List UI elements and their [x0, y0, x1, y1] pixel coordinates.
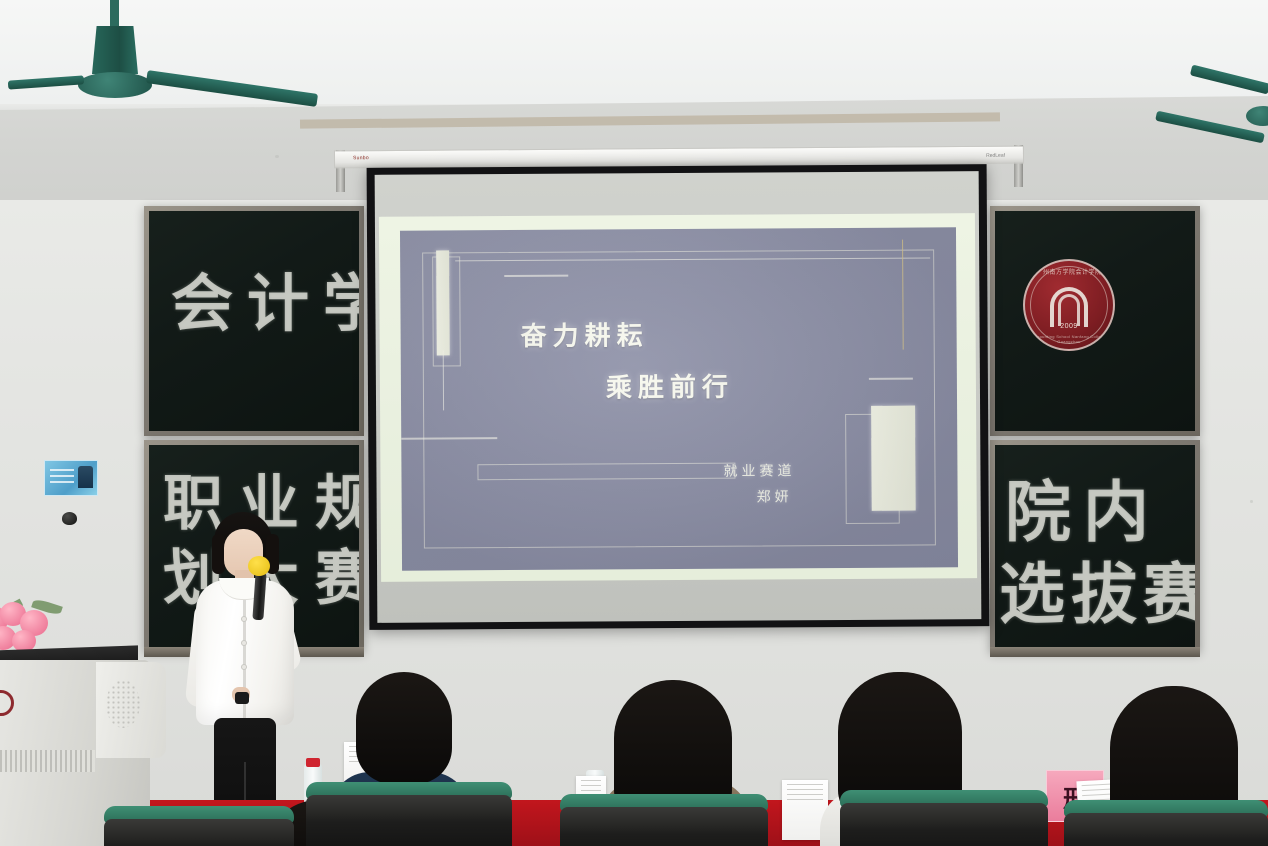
wall-notice-card [44, 460, 98, 496]
chalk-tray [990, 647, 1200, 657]
ceiling-fan-motor [92, 26, 138, 74]
wall-card-lines [50, 469, 74, 487]
slide-deco-dash-upper [504, 275, 568, 277]
auditorium-chair[interactable] [1064, 800, 1268, 846]
blackboard-surface: 会计学院 [149, 211, 359, 431]
emblem-year: 2009 [1025, 323, 1113, 330]
slide-title-line-2: 乘胜前行 [606, 367, 734, 405]
wall-card-photo [78, 466, 93, 488]
wall-mark [1250, 500, 1253, 503]
slide-title-line-1: 奋力耕耘 [521, 315, 649, 353]
slide-subtitle-track: 就业赛道 [723, 460, 795, 480]
podium-speaker-grille [106, 680, 140, 728]
bottle-cap [306, 758, 320, 767]
roller-label: Sunbo [353, 155, 369, 161]
ceiling-fan-hub [78, 72, 152, 98]
chair-back [306, 795, 512, 846]
blackboard-right-top: 广州南方学院会计学院 2009 Accounting School Nanfan… [990, 206, 1200, 436]
chair-back [840, 803, 1048, 846]
slide-deco-bar-right [871, 406, 916, 511]
auditorium-chair[interactable] [104, 806, 294, 846]
microphone-head [248, 556, 270, 576]
blouse-button [241, 664, 247, 670]
chair-back [104, 819, 294, 846]
projector-screen[interactable]: 奋力耕耘 乘胜前行 就业赛道 郑妍 [367, 164, 990, 630]
slide-deco-bottom-bar [477, 463, 735, 481]
podium-vent [0, 750, 95, 772]
chair-back [1064, 813, 1268, 846]
presenter-clicker [235, 692, 249, 704]
wall-hook [62, 512, 77, 525]
slide-deco-dash-right [869, 378, 913, 380]
wall-mark [275, 155, 279, 158]
classroom-scene: Sunbo RedLeaf 会计学院 职业规划大赛 广州南方学院会计学院 200… [0, 0, 1268, 846]
ceiling-fan-stem [110, 0, 119, 30]
auditorium-chair[interactable] [560, 794, 768, 846]
auditorium-chair[interactable] [840, 790, 1048, 846]
blouse-button [241, 640, 247, 646]
blackboard-right-bottom: 院内 选拔赛 [990, 440, 1200, 652]
emblem-chinese-text: 广州南方学院会计学院 [1025, 267, 1113, 276]
chalk-text-left-top: 会计学院 [171, 253, 359, 343]
projector-screen-surface: 奋力耕耘 乘胜前行 就业赛道 郑妍 [375, 171, 982, 623]
emblem-arch-inner-icon [1058, 294, 1080, 326]
blackboard-surface: 广州南方学院会计学院 2009 Accounting School Nanfan… [995, 211, 1195, 431]
emblem-english-text: Accounting School Nanfang College Guangz… [1025, 334, 1113, 344]
roller-brand-label: RedLeaf [986, 153, 1005, 159]
college-emblem: 广州南方学院会计学院 2009 Accounting School Nanfan… [1023, 259, 1115, 351]
blouse-button [241, 616, 247, 622]
slide-presenter-name: 郑妍 [757, 486, 793, 506]
blackboard-left-top: 会计学院 [144, 206, 364, 436]
blackboard-surface: 院内 选拔赛 [995, 445, 1195, 647]
chalk-text-right-line2: 选拔赛 [999, 541, 1195, 637]
auditorium-chair[interactable] [306, 782, 512, 846]
slide-deco-bar-left [436, 250, 450, 355]
presenter [186, 512, 306, 846]
presentation-slide: 奋力耕耘 乘胜前行 就业赛道 郑妍 [400, 227, 958, 570]
chair-back [560, 807, 768, 846]
audience-head [356, 672, 452, 784]
